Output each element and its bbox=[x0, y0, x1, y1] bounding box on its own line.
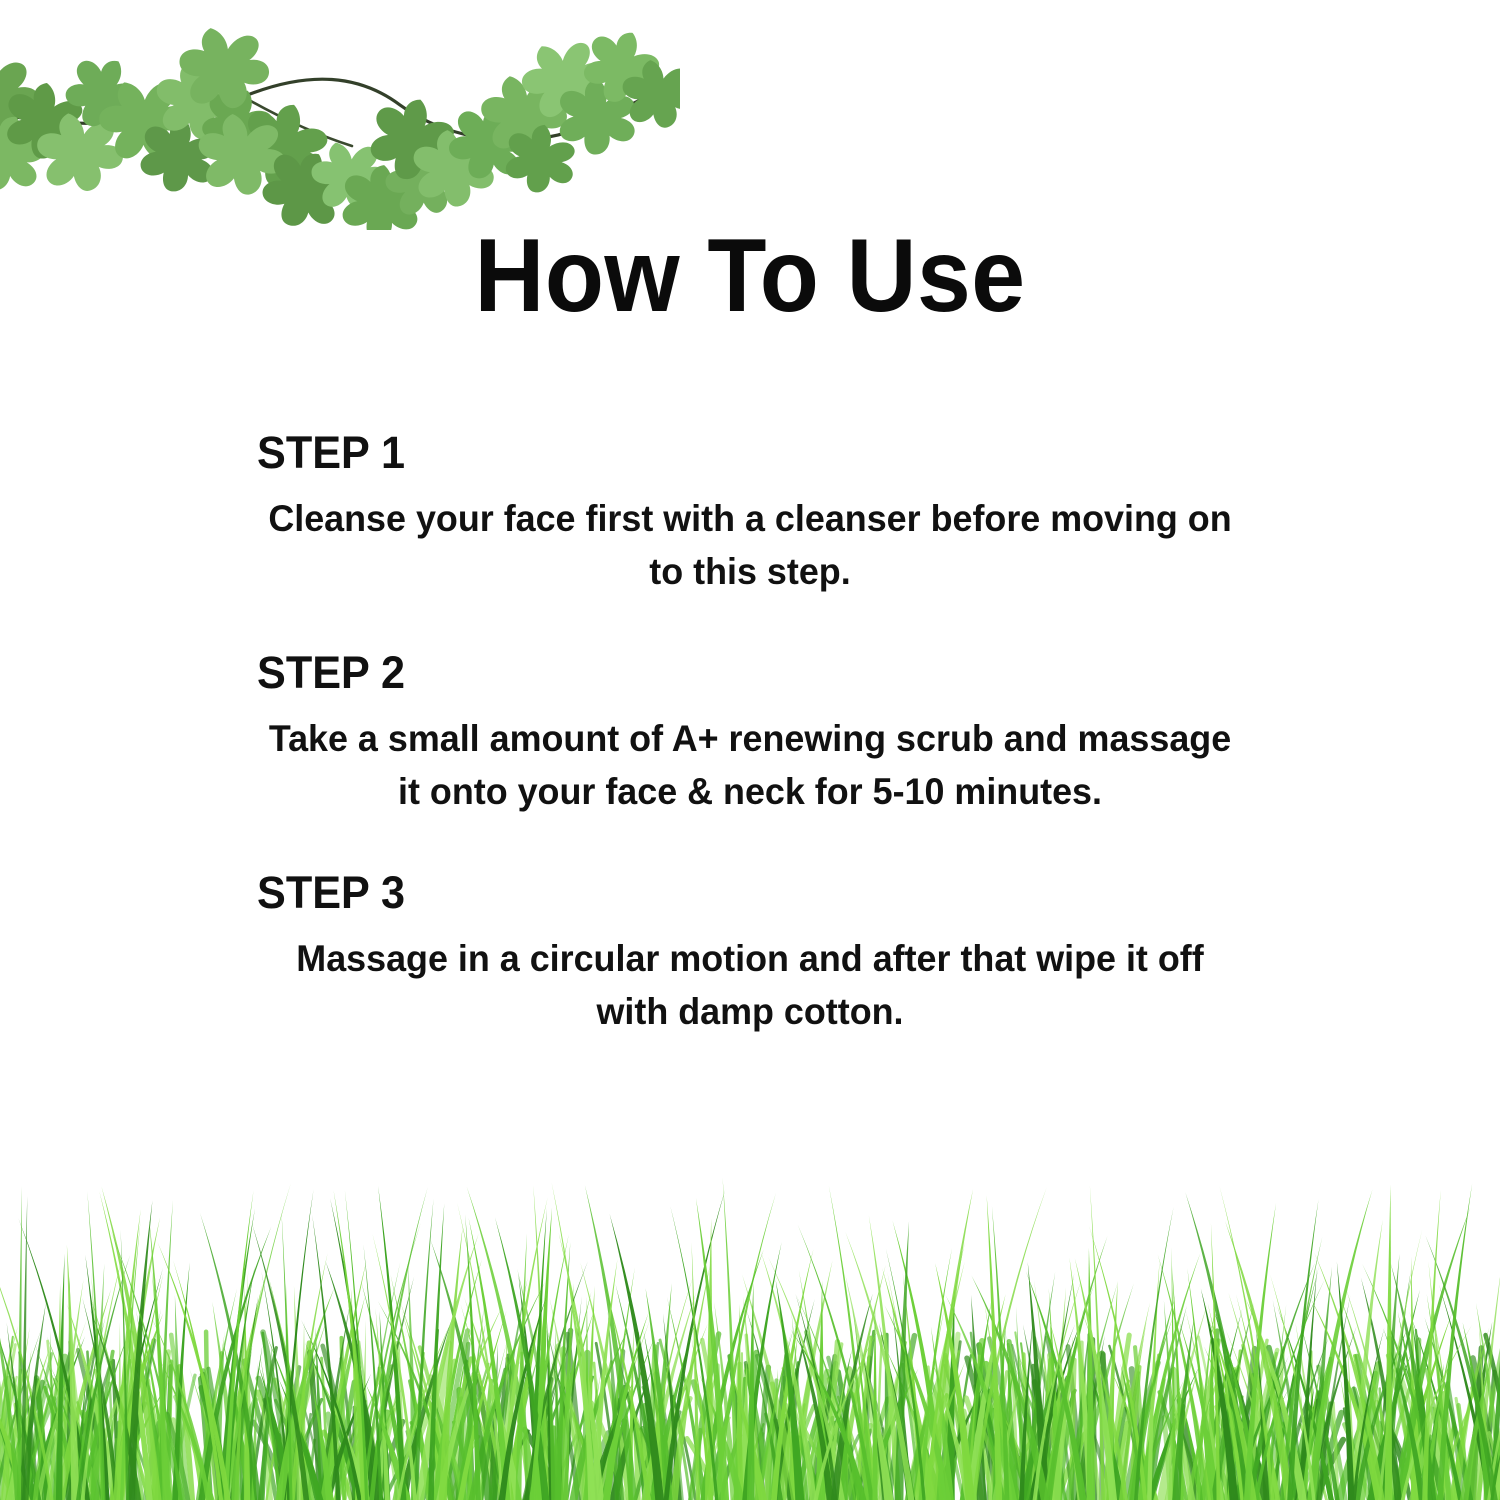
step-3-body: Massage in a circular motion and after t… bbox=[260, 933, 1240, 1038]
step-item: STEP 2 Take a small amount of A+ renewin… bbox=[0, 650, 1500, 818]
step-2-body: Take a small amount of A+ renewing scrub… bbox=[260, 713, 1240, 818]
steps-list: STEP 1 Cleanse your face first with a cl… bbox=[0, 430, 1500, 1090]
step-2-label: STEP 2 bbox=[257, 650, 1450, 695]
leaf-garland-icon bbox=[0, 0, 680, 230]
page-title: How To Use bbox=[53, 222, 1448, 331]
grass-band-icon bbox=[0, 1170, 1500, 1500]
step-3-label: STEP 3 bbox=[257, 870, 1450, 915]
poster-canvas: How To Use STEP 1 Cleanse your face firs… bbox=[0, 0, 1500, 1500]
step-item: STEP 3 Massage in a circular motion and … bbox=[0, 870, 1500, 1038]
step-1-label: STEP 1 bbox=[257, 430, 1450, 475]
step-1-body: Cleanse your face first with a cleanser … bbox=[265, 493, 1235, 598]
step-item: STEP 1 Cleanse your face first with a cl… bbox=[0, 430, 1500, 598]
